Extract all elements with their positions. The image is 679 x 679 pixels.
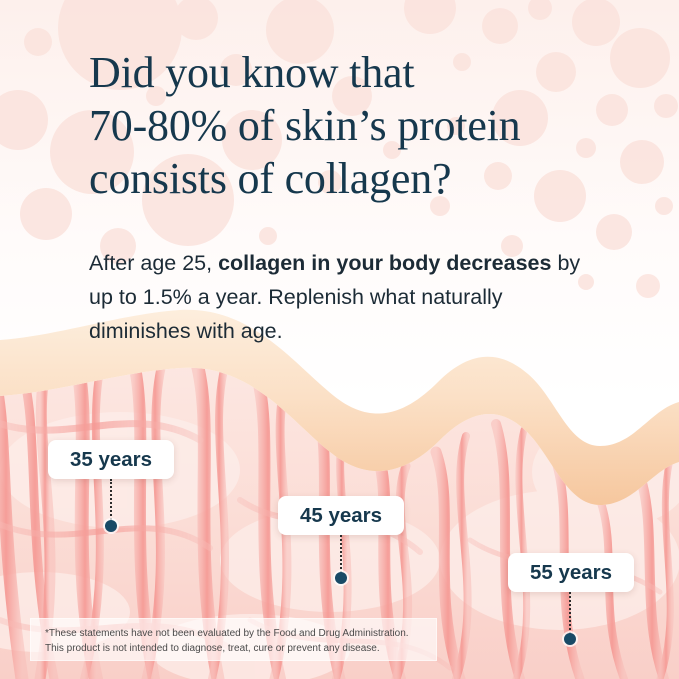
callout-dot-35: [105, 520, 117, 532]
callout-label-55-years[interactable]: 55 years: [508, 553, 634, 592]
callout-label-35-years[interactable]: 35 years: [48, 440, 174, 479]
callout-leader-line-35: [110, 479, 112, 524]
callout-leader-line-45: [340, 535, 342, 577]
body-paragraph: After age 25, collagen in your body decr…: [89, 246, 609, 348]
callout-label-45-years[interactable]: 45 years: [278, 496, 404, 535]
callout-leader-line-55: [569, 592, 571, 638]
page-title: Did you know that 70-80% of skin’s prote…: [89, 46, 649, 205]
callout-dot-55: [564, 633, 576, 645]
infographic-canvas: Did you know that 70-80% of skin’s prote…: [0, 0, 679, 679]
body-lead: After age 25,: [89, 251, 218, 275]
legal-disclaimer: *These statements have not been evaluate…: [30, 618, 437, 661]
body-emphasis: collagen in your body decreases: [218, 251, 551, 275]
callout-dot-45: [335, 572, 347, 584]
